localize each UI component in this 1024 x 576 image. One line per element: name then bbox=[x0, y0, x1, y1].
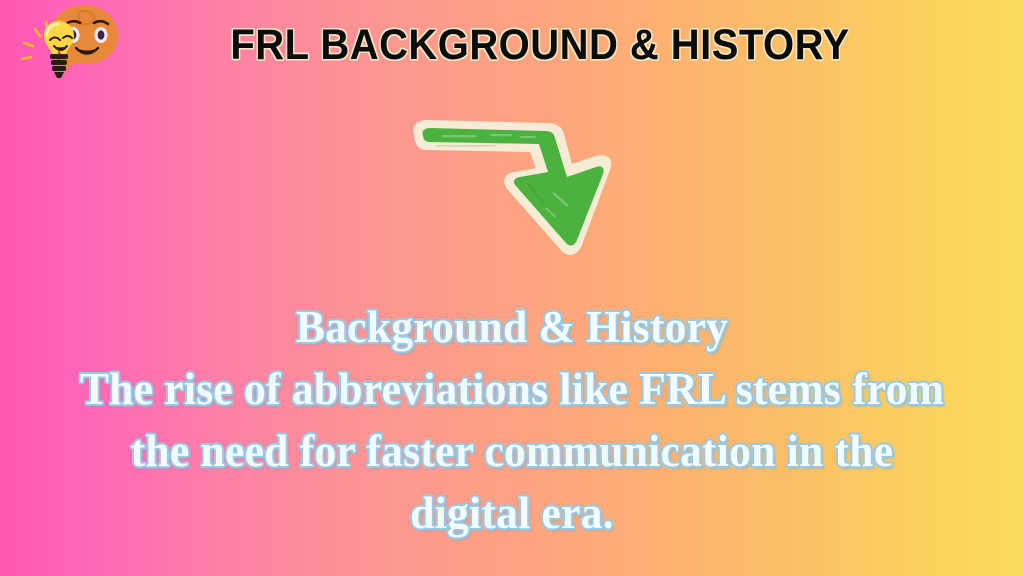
body-line-3: the need for faster communication in the bbox=[15, 420, 1008, 482]
body-line-2: The rise of abbreviations like FRL stems… bbox=[15, 358, 1008, 420]
emoji-badge bbox=[6, 2, 126, 94]
body-line-1: Background & History bbox=[15, 296, 1008, 358]
bent-arrow-down-right-icon bbox=[396, 112, 620, 264]
slide-canvas: FRL BACKGROUND & HISTORY Background & Hi… bbox=[0, 0, 1024, 576]
body-line-4: digital era. bbox=[15, 482, 1008, 544]
page-title: FRL BACKGROUND & HISTORY bbox=[168, 16, 912, 74]
body-copy: Background & History The rise of abbrevi… bbox=[0, 296, 1024, 544]
